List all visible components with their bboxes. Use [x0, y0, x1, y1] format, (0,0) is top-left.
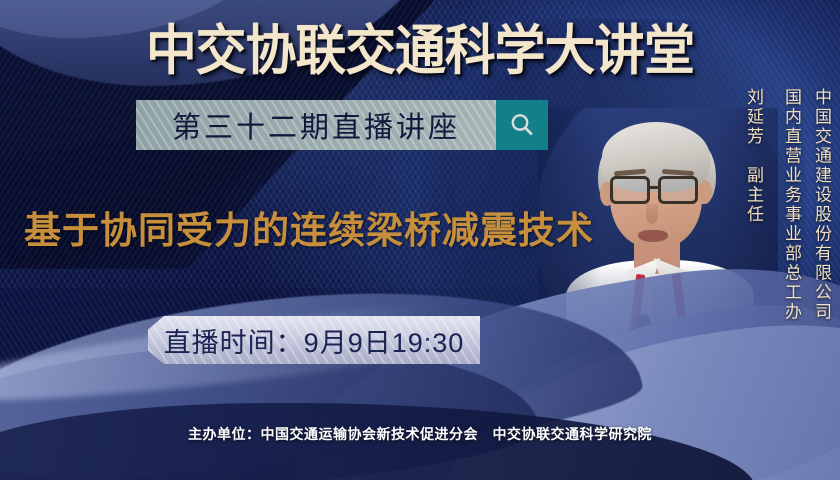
- lecture-topic: 基于协同受力的连续梁桥减震技术: [24, 207, 594, 255]
- poster-main-title: 中交协联交通科学大讲堂: [25, 20, 815, 82]
- subtitle-band: 第三十二期直播讲座: [136, 100, 548, 150]
- broadcast-time-badge: 直播时间：9月9日19:30: [148, 316, 480, 364]
- photo-glasses-bridge: [648, 186, 660, 189]
- organizer-footer: 主办单位：中国交通运输协会新技术促进分会 中交协联交通科学研究院: [0, 424, 840, 444]
- search-button[interactable]: [496, 100, 548, 150]
- photo-glasses-left-lens: [610, 176, 650, 204]
- speaker-company: 中国交通建设股份有限公司: [804, 88, 834, 322]
- photo-nose: [646, 204, 658, 224]
- photo-glasses-right-lens: [658, 176, 698, 204]
- subtitle-text: 第三十二期直播讲座: [172, 104, 460, 146]
- subtitle-band-body: 第三十二期直播讲座: [136, 100, 496, 150]
- speaker-credentials: 刘延芳 副主任 国内直营业务事业部总工办 中国交通建设股份有限公司: [736, 88, 834, 322]
- speaker-name-title: 刘延芳 副主任: [736, 88, 766, 225]
- photo-mouth: [638, 230, 668, 242]
- live-lecture-poster: 中交协联交通科学大讲堂 第三十二期直播讲座 基于协同受力的连续梁桥减震技术 直播…: [0, 0, 840, 480]
- speaker-department: 国内直营业务事业部总工办: [774, 88, 804, 322]
- search-icon: [508, 111, 536, 139]
- broadcast-time-text: 直播时间：9月9日19:30: [164, 321, 465, 360]
